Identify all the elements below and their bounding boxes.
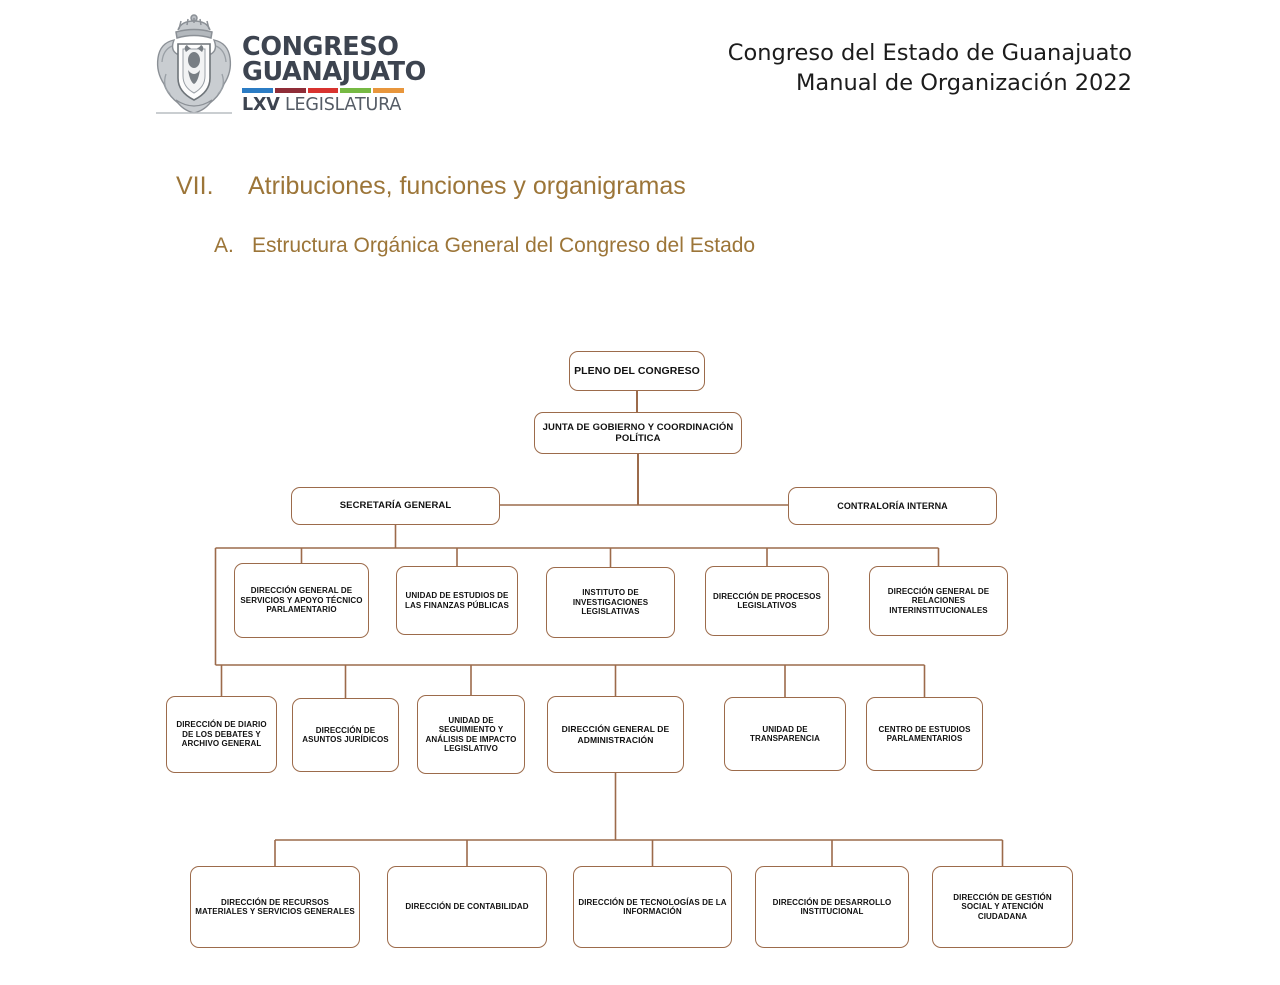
org-node-label: DIRECCIÓN DE TECNOLOGÍAS DE LA INFORMACI… xyxy=(578,898,727,917)
org-node-label: INSTITUTO DE INVESTIGACIONES LEGISLATIVA… xyxy=(551,588,670,616)
org-node-label: SECRETARÍA GENERAL xyxy=(340,500,452,511)
org-node-impacto[interactable]: UNIDAD DE SEGUIMIENTO Y ANÁLISIS DE IMPA… xyxy=(417,695,525,774)
org-node-label: UNIDAD DE TRANSPARENCIA xyxy=(729,725,841,744)
org-node-label: DIRECCIÓN DE CONTABILIDAD xyxy=(405,902,528,911)
org-node-label: DIRECCIÓN GENERAL DE RELACIONES INTERINS… xyxy=(874,587,1003,615)
org-node-label: DIRECCIÓN GENERAL DE ADMINISTRACIÓN xyxy=(552,724,679,744)
org-node-contabilidad[interactable]: DIRECCIÓN DE CONTABILIDAD xyxy=(387,866,547,948)
org-node-label: DIRECCIÓN DE DESARROLLO INSTITUCIONAL xyxy=(760,898,904,917)
org-node-centro[interactable]: CENTRO DE ESTUDIOS PARLAMENTARIOS xyxy=(866,697,983,771)
org-node-label: CONTRALORÍA INTERNA xyxy=(837,501,948,512)
org-node-label: DIRECCIÓN DE DIARIO DE LOS DEBATES Y ARC… xyxy=(171,720,272,748)
org-node-label: CENTRO DE ESTUDIOS PARLAMENTARIOS xyxy=(871,725,978,744)
org-node-label: UNIDAD DE SEGUIMIENTO Y ANÁLISIS DE IMPA… xyxy=(422,716,520,754)
org-node-instituto[interactable]: INSTITUTO DE INVESTIGACIONES LEGISLATIVA… xyxy=(546,567,675,638)
org-node-dg-servicios[interactable]: DIRECCIÓN GENERAL DE SERVICIOS Y APOYO T… xyxy=(234,563,369,638)
org-node-dg-admin[interactable]: DIRECCIÓN GENERAL DE ADMINISTRACIÓN xyxy=(547,696,684,773)
org-node-junta[interactable]: JUNTA DE GOBIERNO Y COORDINACIÓN POLÍTIC… xyxy=(534,412,742,454)
org-node-desarrollo[interactable]: DIRECCIÓN DE DESARROLLO INSTITUCIONAL xyxy=(755,866,909,948)
organizational-chart: PLENO DEL CONGRESOJUNTA DE GOBIERNO Y CO… xyxy=(0,0,1280,985)
org-node-gestion[interactable]: DIRECCIÓN DE GESTIÓN SOCIAL Y ATENCIÓN C… xyxy=(932,866,1073,948)
document-page: CONGRESO GUANAJUATO LXV LEGISLATURA Cong… xyxy=(0,0,1280,985)
org-node-label: JUNTA DE GOBIERNO Y COORDINACIÓN POLÍTIC… xyxy=(539,422,737,444)
org-node-label: DIRECCIÓN GENERAL DE SERVICIOS Y APOYO T… xyxy=(239,586,364,614)
org-node-diario[interactable]: DIRECCIÓN DE DIARIO DE LOS DEBATES Y ARC… xyxy=(166,696,277,773)
org-node-juridicos[interactable]: DIRECCIÓN DE ASUNTOS JURÍDICOS xyxy=(292,698,399,772)
org-node-label: DIRECCIÓN DE GESTIÓN SOCIAL Y ATENCIÓN C… xyxy=(937,893,1068,921)
org-node-recursos[interactable]: DIRECCIÓN DE RECURSOS MATERIALES Y SERVI… xyxy=(190,866,360,948)
org-node-dg-relaciones[interactable]: DIRECCIÓN GENERAL DE RELACIONES INTERINS… xyxy=(869,566,1008,636)
org-node-label: PLENO DEL CONGRESO xyxy=(574,365,700,377)
org-node-label: DIRECCIÓN DE RECURSOS MATERIALES Y SERVI… xyxy=(195,898,355,917)
org-node-tecnologias[interactable]: DIRECCIÓN DE TECNOLOGÍAS DE LA INFORMACI… xyxy=(573,866,732,948)
org-node-transparencia[interactable]: UNIDAD DE TRANSPARENCIA xyxy=(724,697,846,771)
org-node-secretaria[interactable]: SECRETARÍA GENERAL xyxy=(291,487,500,525)
org-node-pleno[interactable]: PLENO DEL CONGRESO xyxy=(569,351,705,391)
org-node-label: DIRECCIÓN DE ASUNTOS JURÍDICOS xyxy=(297,726,394,745)
org-node-label: UNIDAD DE ESTUDIOS DE LAS FINANZAS PÚBLI… xyxy=(401,591,513,610)
org-node-unidad-finanzas[interactable]: UNIDAD DE ESTUDIOS DE LAS FINANZAS PÚBLI… xyxy=(396,566,518,635)
org-node-label: DIRECCIÓN DE PROCESOS LEGISLATIVOS xyxy=(710,592,824,611)
org-node-procesos[interactable]: DIRECCIÓN DE PROCESOS LEGISLATIVOS xyxy=(705,566,829,636)
org-node-contraloria[interactable]: CONTRALORÍA INTERNA xyxy=(788,487,997,525)
org-chart-connectors xyxy=(0,0,1280,985)
